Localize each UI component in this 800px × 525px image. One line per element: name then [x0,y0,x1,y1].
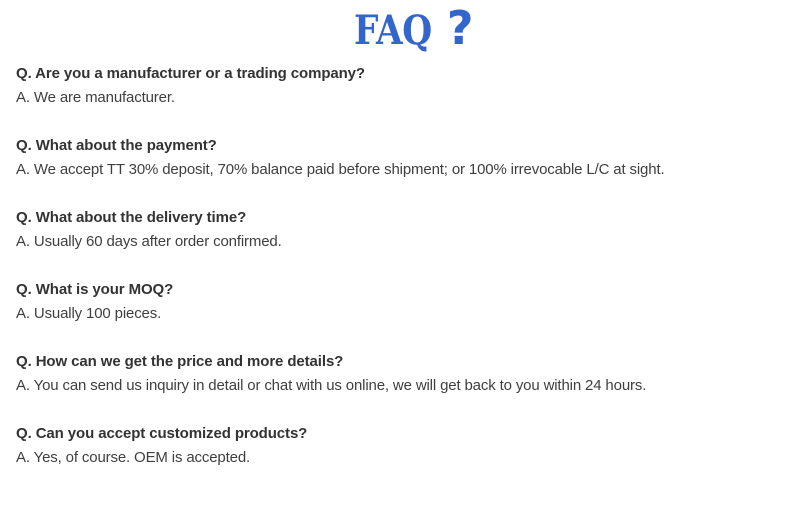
page-header: FAQ ? [0,0,800,56]
faq-question: Q. What about the delivery time? [16,206,792,230]
page-title: FAQ ? [354,5,473,51]
faq-item: Q. How can we get the price and more det… [16,350,792,398]
faq-answer: A. Usually 60 days after order confirmed… [16,230,792,254]
faq-item: Q. What is your MOQ? A. Usually 100 piec… [16,278,792,326]
faq-item: Q. What about the payment? A. We accept … [16,134,792,182]
faq-item: Q. What about the delivery time? A. Usua… [16,206,792,254]
faq-question: Q. What about the payment? [16,134,792,158]
faq-answer: A. We are manufacturer. [16,86,792,110]
question-mark-icon: ? [447,5,474,51]
page-title-text: FAQ [354,11,432,51]
faq-question: Q. Can you accept customized products? [16,422,792,446]
faq-answer: A. Usually 100 pieces. [16,302,792,326]
faq-page: FAQ ? Q. Are you a manufacturer or a tra… [0,0,800,525]
faq-answer: A. You can send us inquiry in detail or … [16,374,792,398]
faq-item: Q. Are you a manufacturer or a trading c… [16,62,792,110]
faq-list: Q. Are you a manufacturer or a trading c… [16,62,792,470]
faq-answer: A. Yes, of course. OEM is accepted. [16,446,792,470]
faq-item: Q. Can you accept customized products? A… [16,422,792,470]
faq-question: Q. What is your MOQ? [16,278,792,302]
faq-answer: A. We accept TT 30% deposit, 70% balance… [16,158,792,182]
faq-question: Q. Are you a manufacturer or a trading c… [16,62,792,86]
faq-question: Q. How can we get the price and more det… [16,350,792,374]
